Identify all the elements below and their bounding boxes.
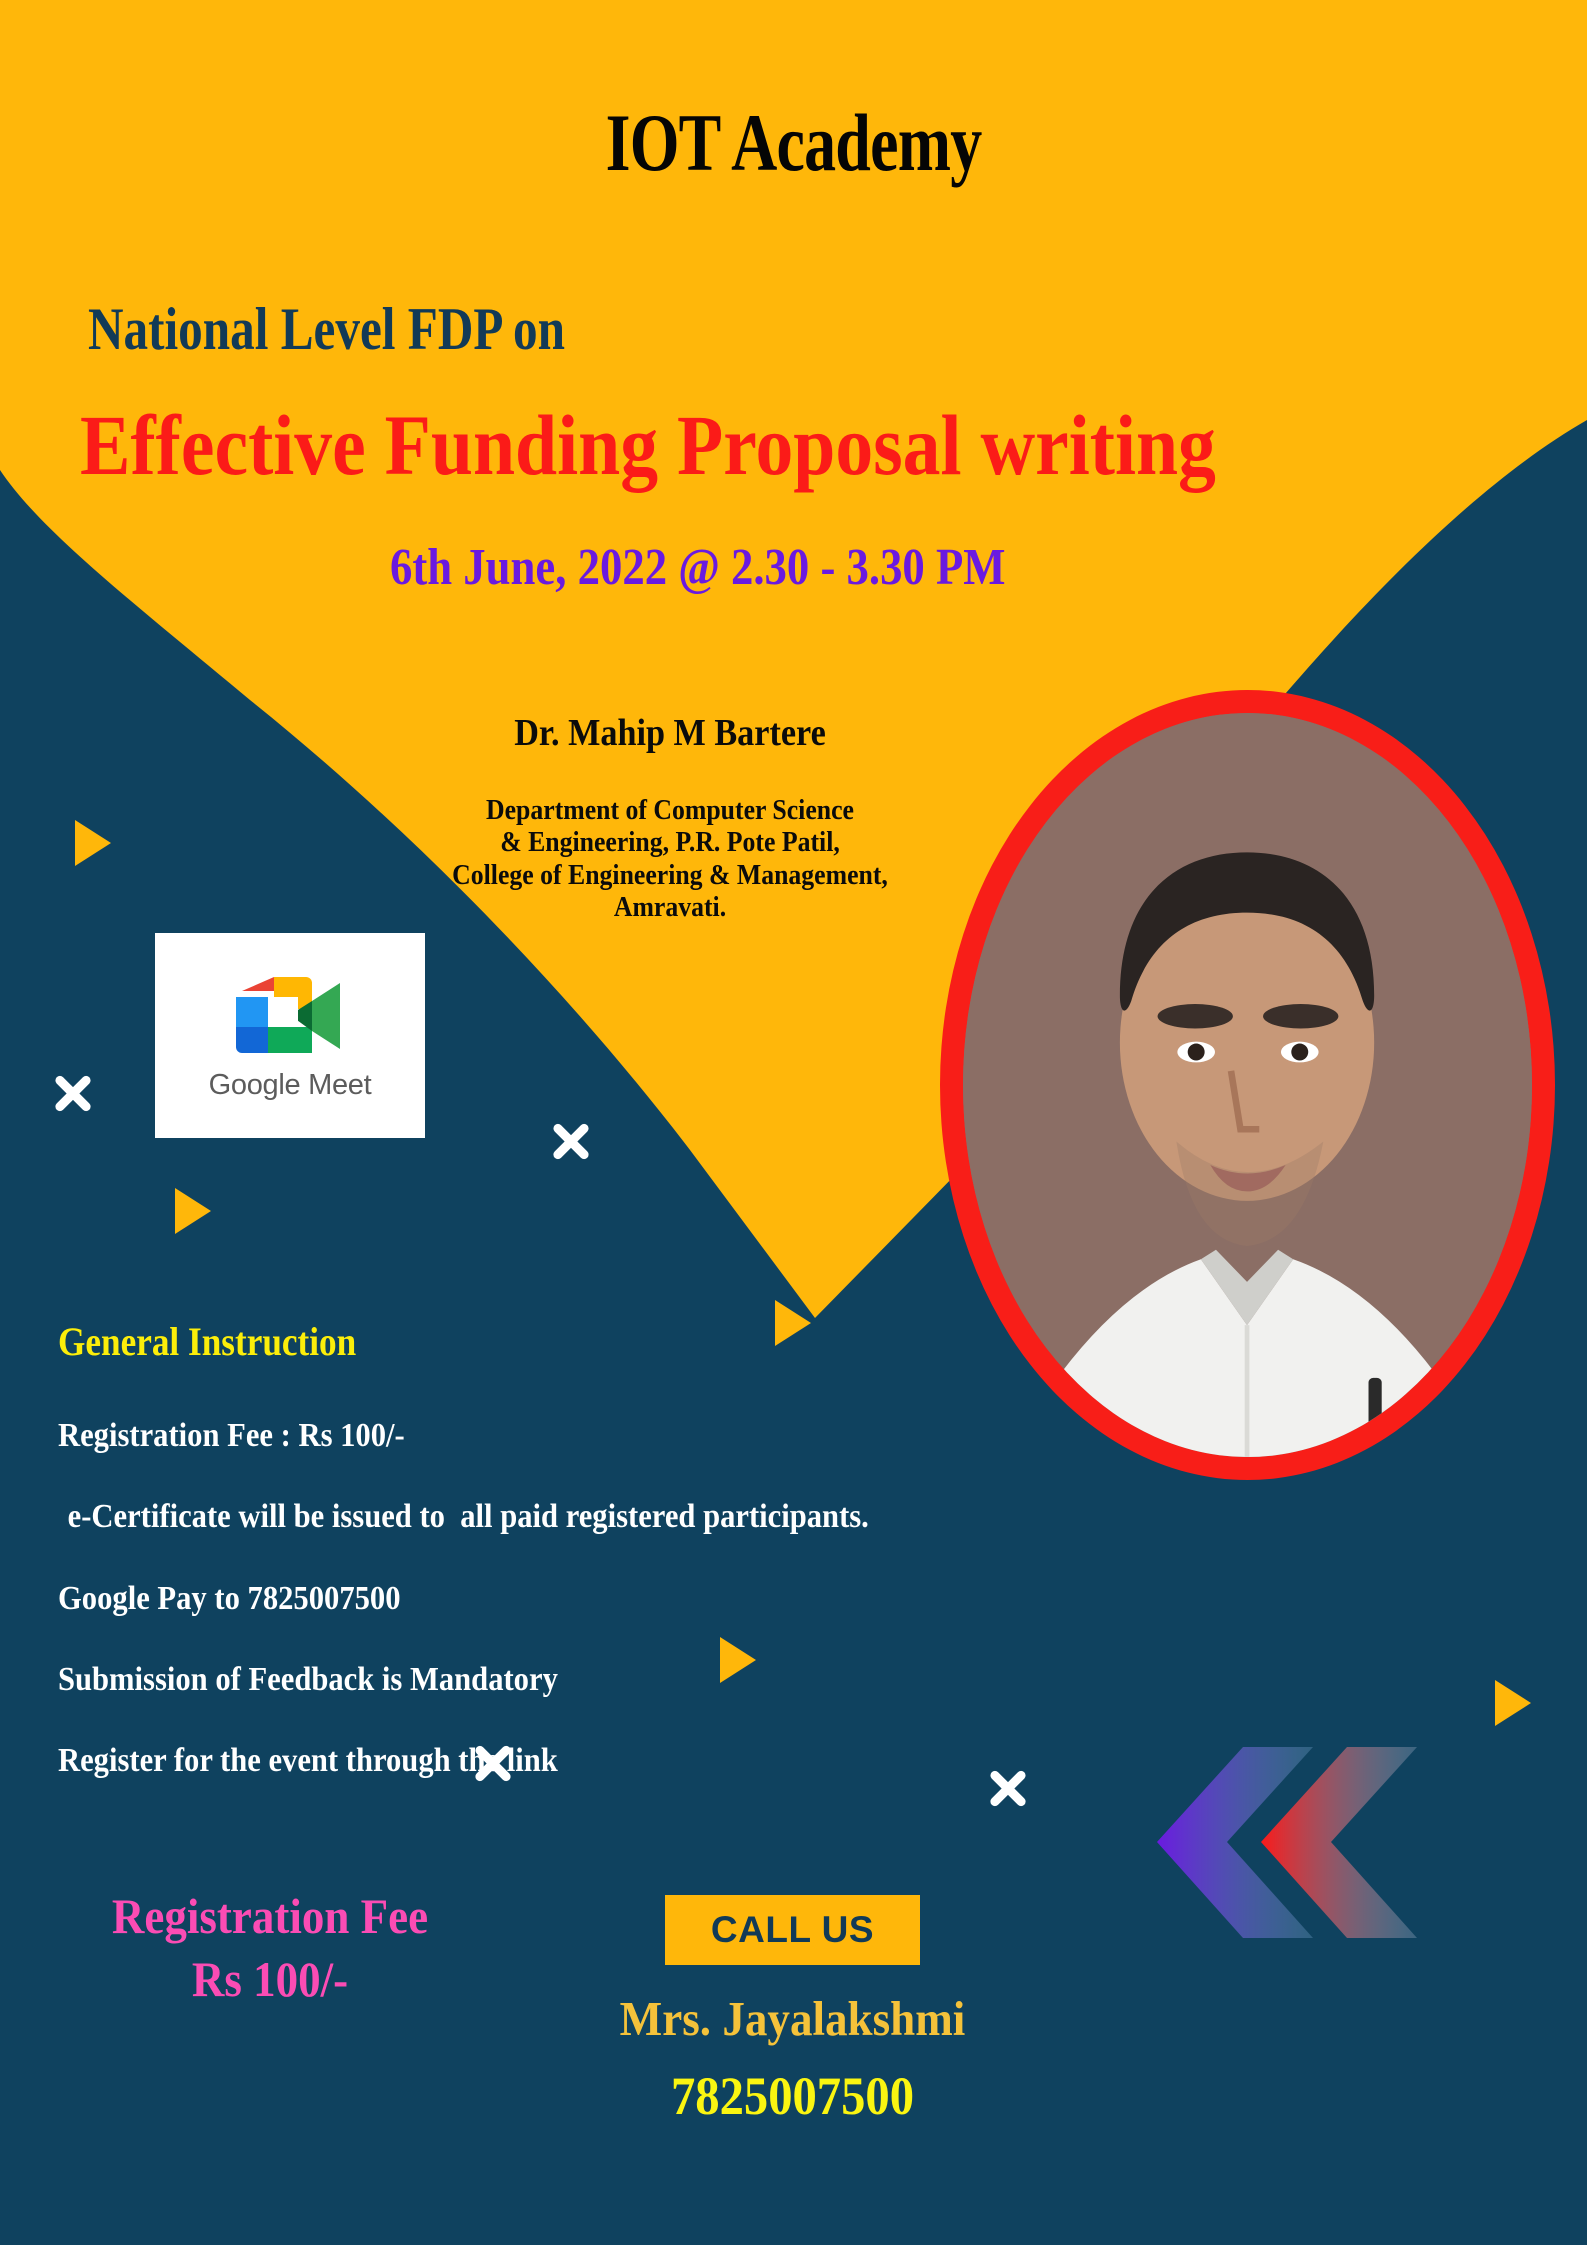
instruction-line: Submission of Feedback is Mandatory [58, 1661, 558, 1699]
registration-fee-callout: Registration Fee Rs 100/- [81, 1885, 459, 2010]
play-triangle-icon [1495, 1680, 1531, 1726]
speaker-name: Dr. Mahip M Bartere [364, 711, 976, 755]
instruction-line: e-Certificate will be issued to all paid… [60, 1498, 869, 1536]
instruction-line: Register for the event through the link [58, 1742, 558, 1780]
play-triangle-icon [720, 1637, 756, 1683]
instruction-line: Google Pay to 7825007500 [58, 1580, 401, 1618]
instruction-line: Registration Fee : Rs 100/- [58, 1417, 405, 1455]
event-datetime: 6th June, 2022 @ 2.30 - 3.30 PM [390, 538, 1005, 597]
play-triangle-icon [75, 820, 111, 866]
x-mark-icon [985, 1765, 1031, 1811]
event-prefix: National Level FDP on [88, 295, 565, 364]
speaker-portrait [940, 690, 1555, 1480]
play-triangle-icon [175, 1188, 211, 1234]
play-triangle-icon [775, 1300, 811, 1346]
speaker-affiliation: Department of Computer Science & Enginee… [357, 795, 983, 925]
call-us-button[interactable]: CALL US [665, 1895, 920, 1965]
google-meet-card: Google Meet [155, 933, 425, 1138]
google-meet-logo [228, 969, 352, 1065]
page-title: IOT Academy [175, 96, 1413, 190]
general-instruction-heading: General Instruction [58, 1318, 356, 1365]
google-meet-label: Google Meet [209, 1069, 372, 1102]
double-chevron-left-icon [1135, 1745, 1455, 1940]
contact-phone[interactable]: 7825007500 [579, 2065, 1007, 2127]
x-mark-icon [548, 1118, 594, 1164]
speaker-block: Dr. Mahip M Bartere Department of Comput… [330, 675, 1010, 961]
contact-name: Mrs. Jayalakshmi [574, 1990, 1011, 2047]
event-poster: IOT Academy National Level FDP on Effect… [0, 0, 1587, 2245]
event-title: Effective Funding Proposal writing [80, 395, 1216, 495]
x-mark-icon [50, 1070, 96, 1116]
